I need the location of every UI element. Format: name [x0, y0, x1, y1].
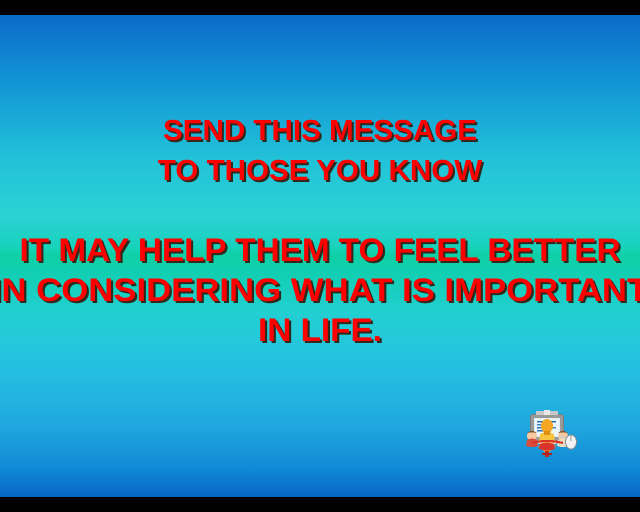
slide-screen: SEND THIS MESSAGE TO THOSE YOU KNOW IT M…: [0, 0, 640, 512]
message-body-line-2: IN CONSIDERING WHAT IS IMPORTANT: [0, 270, 640, 310]
computer-users-clipart-icon: [518, 398, 580, 458]
message-body-line-1: IT MAY HELP THEM TO FEEL BETTER: [0, 230, 640, 270]
message-body-line-3: IN LIFE.: [0, 310, 640, 350]
slide-canvas: SEND THIS MESSAGE TO THOSE YOU KNOW IT M…: [0, 15, 640, 497]
letterbox-bar-top: [0, 0, 640, 15]
message-heading-line-1: SEND THIS MESSAGE: [0, 111, 640, 151]
message-heading-line-2: TO THOSE YOU KNOW: [0, 151, 640, 191]
letterbox-bar-bottom: [0, 497, 640, 512]
message-heading: SEND THIS MESSAGE TO THOSE YOU KNOW: [0, 111, 640, 191]
message-body: IT MAY HELP THEM TO FEEL BETTER IN CONSI…: [0, 230, 640, 350]
